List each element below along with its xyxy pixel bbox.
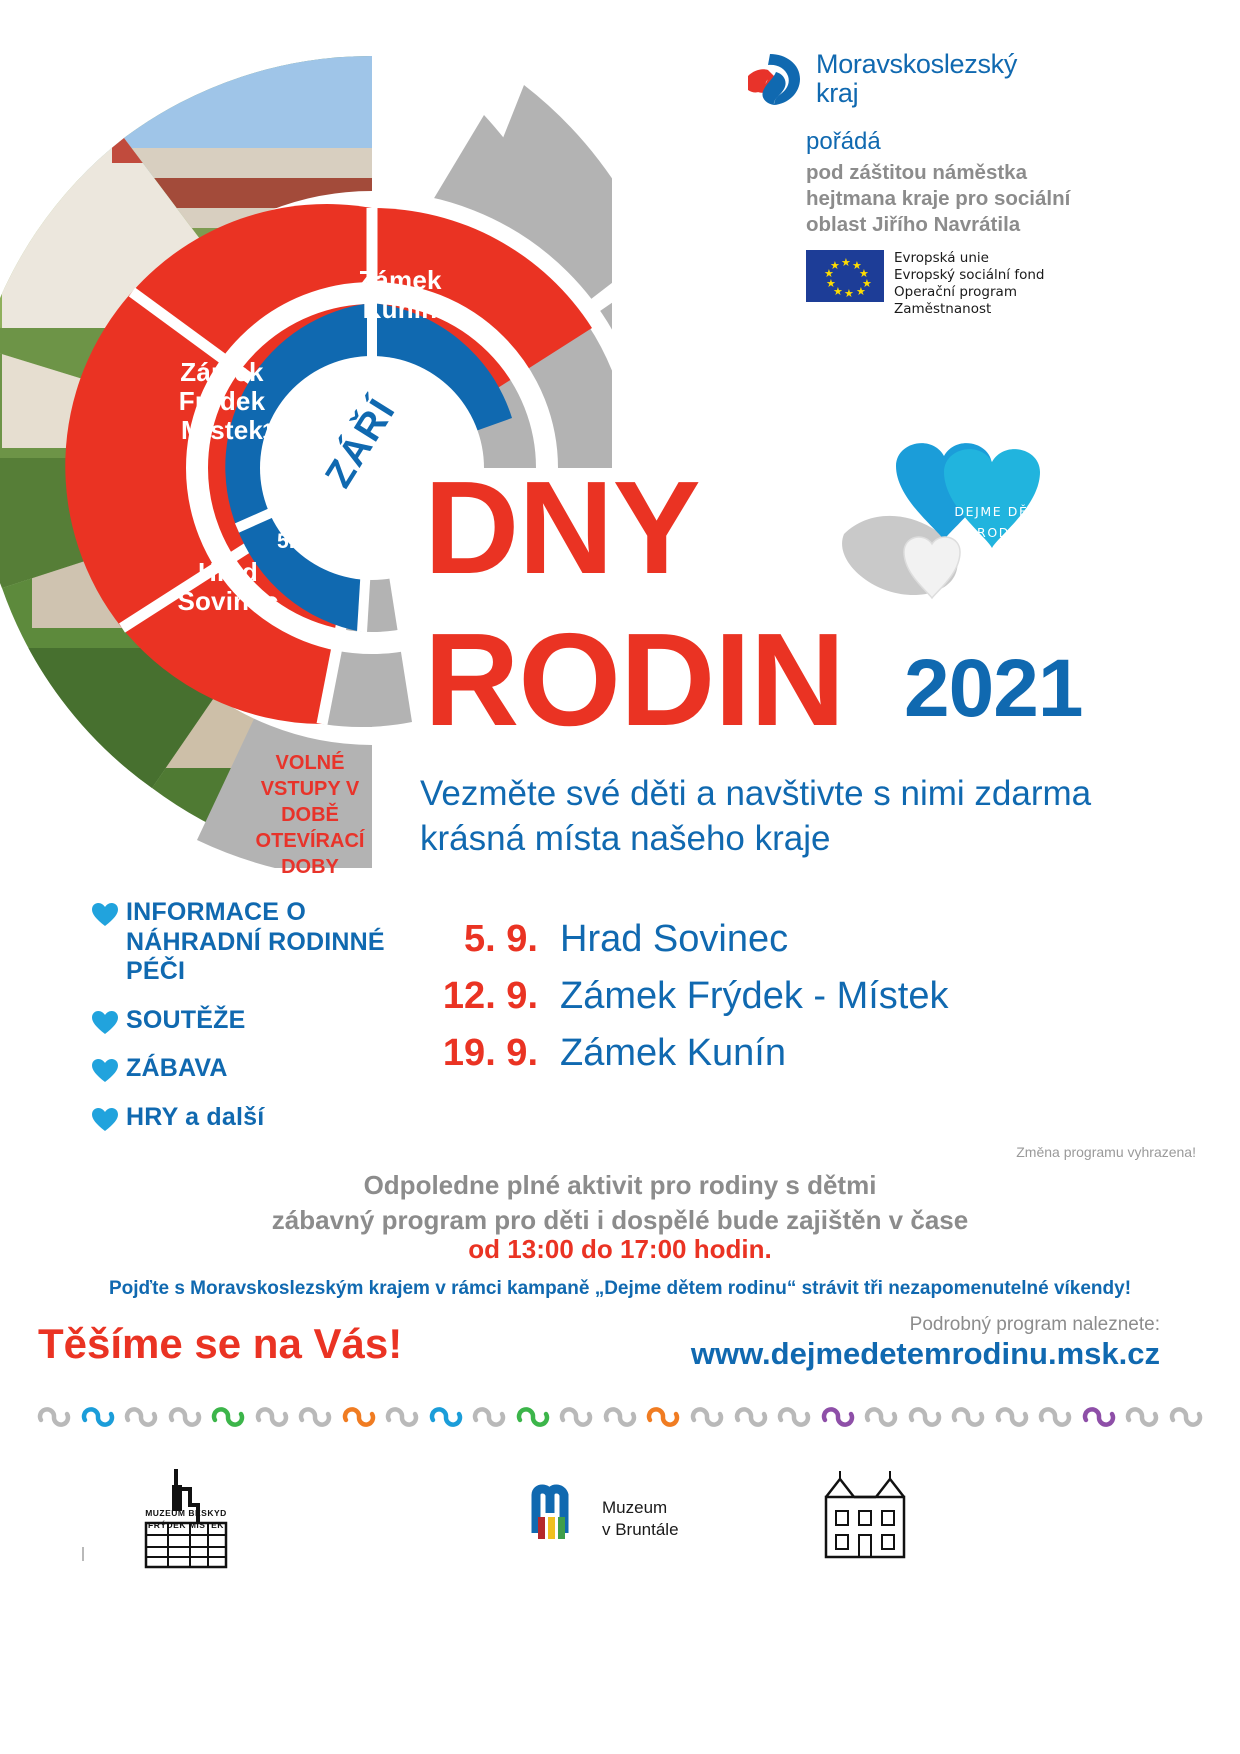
msk-logo-mark [740, 52, 804, 112]
swirl-icon [428, 1396, 464, 1432]
swirl-icon [1124, 1396, 1160, 1432]
wheel-sovinec-line2: Sovinec [160, 587, 296, 616]
event-venue: Zámek Kunín [560, 1032, 786, 1075]
program-description: Odpoledne plné aktivit pro rodiny s dětm… [0, 1168, 1240, 1238]
swirl-icon [602, 1396, 638, 1432]
feature-label: ZÁBAVA [126, 1054, 228, 1084]
swirl-icon [167, 1396, 203, 1432]
swirl-icon [297, 1396, 333, 1432]
swirl-icon [384, 1396, 420, 1432]
table-row: 12. 9. Zámek Frýdek - Místek [420, 975, 1060, 1018]
event-date: 12. 9. [420, 975, 538, 1018]
swirl-icon [558, 1396, 594, 1432]
patronage-text: pod záštitou náměstka hejtmana kraje pro… [806, 160, 1106, 239]
muzeum-bruntal-line2: v Bruntále [602, 1519, 679, 1541]
swirl-icon [210, 1396, 246, 1432]
msk-logo-wordmark: Moravskoslezský kraj [816, 50, 1017, 108]
website-link[interactable]: www.dejmedetemrodinu.msk.cz [600, 1336, 1160, 1372]
swirl-icon [1168, 1396, 1204, 1432]
details-label: Podrobný program naleznete: [600, 1314, 1160, 1336]
muzeum-bruntal-text: Muzeum v Bruntále [602, 1497, 679, 1541]
swirl-icon [950, 1396, 986, 1432]
page-title-line1: DNY [424, 462, 700, 594]
muzeum-bruntal-logo: Muzeum v Bruntále [530, 1483, 710, 1553]
msk-name-line1: Moravskoslezský [816, 50, 1017, 79]
table-row: 19. 9. Zámek Kunín [420, 1032, 1060, 1075]
page-title-line2: RODIN [424, 614, 844, 746]
heart-logo-line1: DEJME DĚTEM [948, 502, 1066, 523]
heart-logo-text: DEJME DĚTEM RODINU [948, 502, 1066, 543]
program-change-note: Změna programu vyhrazena! [0, 1144, 1196, 1160]
list-item: HRY a další [92, 1103, 392, 1133]
zamek-kunin-logo [820, 1467, 910, 1567]
feature-label: INFORMACE O NÁHRADNÍ RODINNÉ PÉČI [126, 898, 392, 987]
swirl-icon [907, 1396, 943, 1432]
list-item: SOUTĚŽE [92, 1006, 392, 1036]
swirl-icon [1037, 1396, 1073, 1432]
heart-icon [92, 1108, 118, 1132]
eu-line-3: Operační program Zaměstnanost [894, 284, 1106, 318]
wheel-kunin-line2: Kunín [310, 295, 490, 324]
dejme-detem-rodinu-logo: DEJME DĚTEM RODINU [836, 424, 1066, 609]
heart-icon [92, 1059, 118, 1083]
swirl-icon [80, 1396, 116, 1432]
muzeum-bruntal-icon [530, 1483, 592, 1543]
feature-label: HRY a další [126, 1103, 264, 1133]
zamek-kunin-icon [820, 1467, 910, 1567]
table-row: 5. 9. Hrad Sovinec [420, 918, 1060, 961]
swirl-icon [994, 1396, 1030, 1432]
wheel-frydek-line2: Frýdek [152, 387, 292, 416]
swirl-icon [863, 1396, 899, 1432]
program-line1: Odpoledne plné aktivit pro rodiny s dětm… [0, 1168, 1240, 1203]
msk-name-line2: kraj [816, 79, 1017, 108]
page-subtitle: Vezměte své děti a navštivte s nimi zdar… [420, 772, 1100, 862]
swirl-icon [733, 1396, 769, 1432]
partner-logos: MUZEUM BESKYD FRÝDEK MÍSTEK Muzeum v Bru… [0, 1455, 1240, 1585]
invitation-text: Pojďte s Moravskoslezským krajem v rámci… [0, 1278, 1240, 1300]
free-entry-note: VOLNÉ VSTUPY V DOBĚ OTEVÍRACÍ DOBY [250, 750, 370, 880]
program-time: od 13:00 do 17:00 hodin. [0, 1234, 1240, 1265]
feature-label: SOUTĚŽE [126, 1006, 245, 1036]
wheel-label-sovinec: Hrad Sovinec [160, 558, 296, 616]
swirl-icon [341, 1396, 377, 1432]
event-venue: Zámek Frýdek - Místek [560, 975, 949, 1018]
event-venue: Hrad Sovinec [560, 918, 788, 961]
wheel-day-5: 5. [255, 530, 317, 554]
swirl-icon [471, 1396, 507, 1432]
wheel-label-kunin: Zámek Kunín [310, 266, 490, 324]
eu-funding-text: Evropská unie Evropský sociální fond Ope… [894, 250, 1106, 319]
moravskoslezsky-kraj-logo: Moravskoslezský kraj [740, 52, 1100, 122]
muzeum-beskyd-logo: MUZEUM BESKYD FRÝDEK MÍSTEK [138, 1465, 234, 1575]
heart-icon [92, 1011, 118, 1035]
eu-line-1: Evropská unie [894, 250, 1106, 267]
swirl-icon [820, 1396, 856, 1432]
swirl-icon [645, 1396, 681, 1432]
closing-text: Těšíme se na Vás! [38, 1320, 402, 1368]
decorative-ornament-strip [36, 1392, 1204, 1436]
swirl-icon [36, 1396, 72, 1432]
heart-icon [92, 903, 118, 927]
swirl-icon [776, 1396, 812, 1432]
organizes-label: pořádá [806, 128, 881, 156]
swirl-icon [515, 1396, 551, 1432]
muzeum-bruntal-line1: Muzeum [602, 1497, 679, 1519]
wheel-frydek-line1: Zámek [152, 358, 292, 387]
wheel-day-19: 19. [337, 361, 399, 385]
eu-flag-icon: ★ ★ ★ ★ ★ ★ ★ ★ ★ ★ [806, 250, 884, 302]
eu-line-2: Evropský sociální fond [894, 267, 1106, 284]
wheel-kunin-line1: Zámek [310, 266, 490, 295]
swirl-icon [254, 1396, 290, 1432]
program-line2: zábavný program pro děti i dospělé bude … [0, 1203, 1240, 1238]
event-schedule-list: 5. 9. Hrad Sovinec 12. 9. Zámek Frýdek -… [420, 918, 1060, 1089]
list-item: INFORMACE O NÁHRADNÍ RODINNÉ PÉČI [92, 898, 392, 987]
eu-funding-block: ★ ★ ★ ★ ★ ★ ★ ★ ★ ★ Evropská unie Evrops… [806, 250, 1106, 306]
heart-logo-line2: RODINU [948, 523, 1066, 544]
wheel-sovinec-line1: Hrad [160, 558, 296, 587]
tick-mark [82, 1547, 84, 1561]
swirl-icon [123, 1396, 159, 1432]
muzeum-beskyd-text: MUZEUM BESKYD FRÝDEK MÍSTEK [138, 1507, 234, 1532]
swirl-icon [1081, 1396, 1117, 1432]
event-date: 19. 9. [420, 1032, 538, 1075]
page-title-year: 2021 [904, 648, 1082, 730]
features-list: INFORMACE O NÁHRADNÍ RODINNÉ PÉČI SOUTĚŽ… [92, 898, 392, 1151]
wheel-day-12: 12. [246, 420, 308, 444]
swirl-icon [689, 1396, 725, 1432]
list-item: ZÁBAVA [92, 1054, 392, 1084]
event-date: 5. 9. [420, 918, 538, 961]
